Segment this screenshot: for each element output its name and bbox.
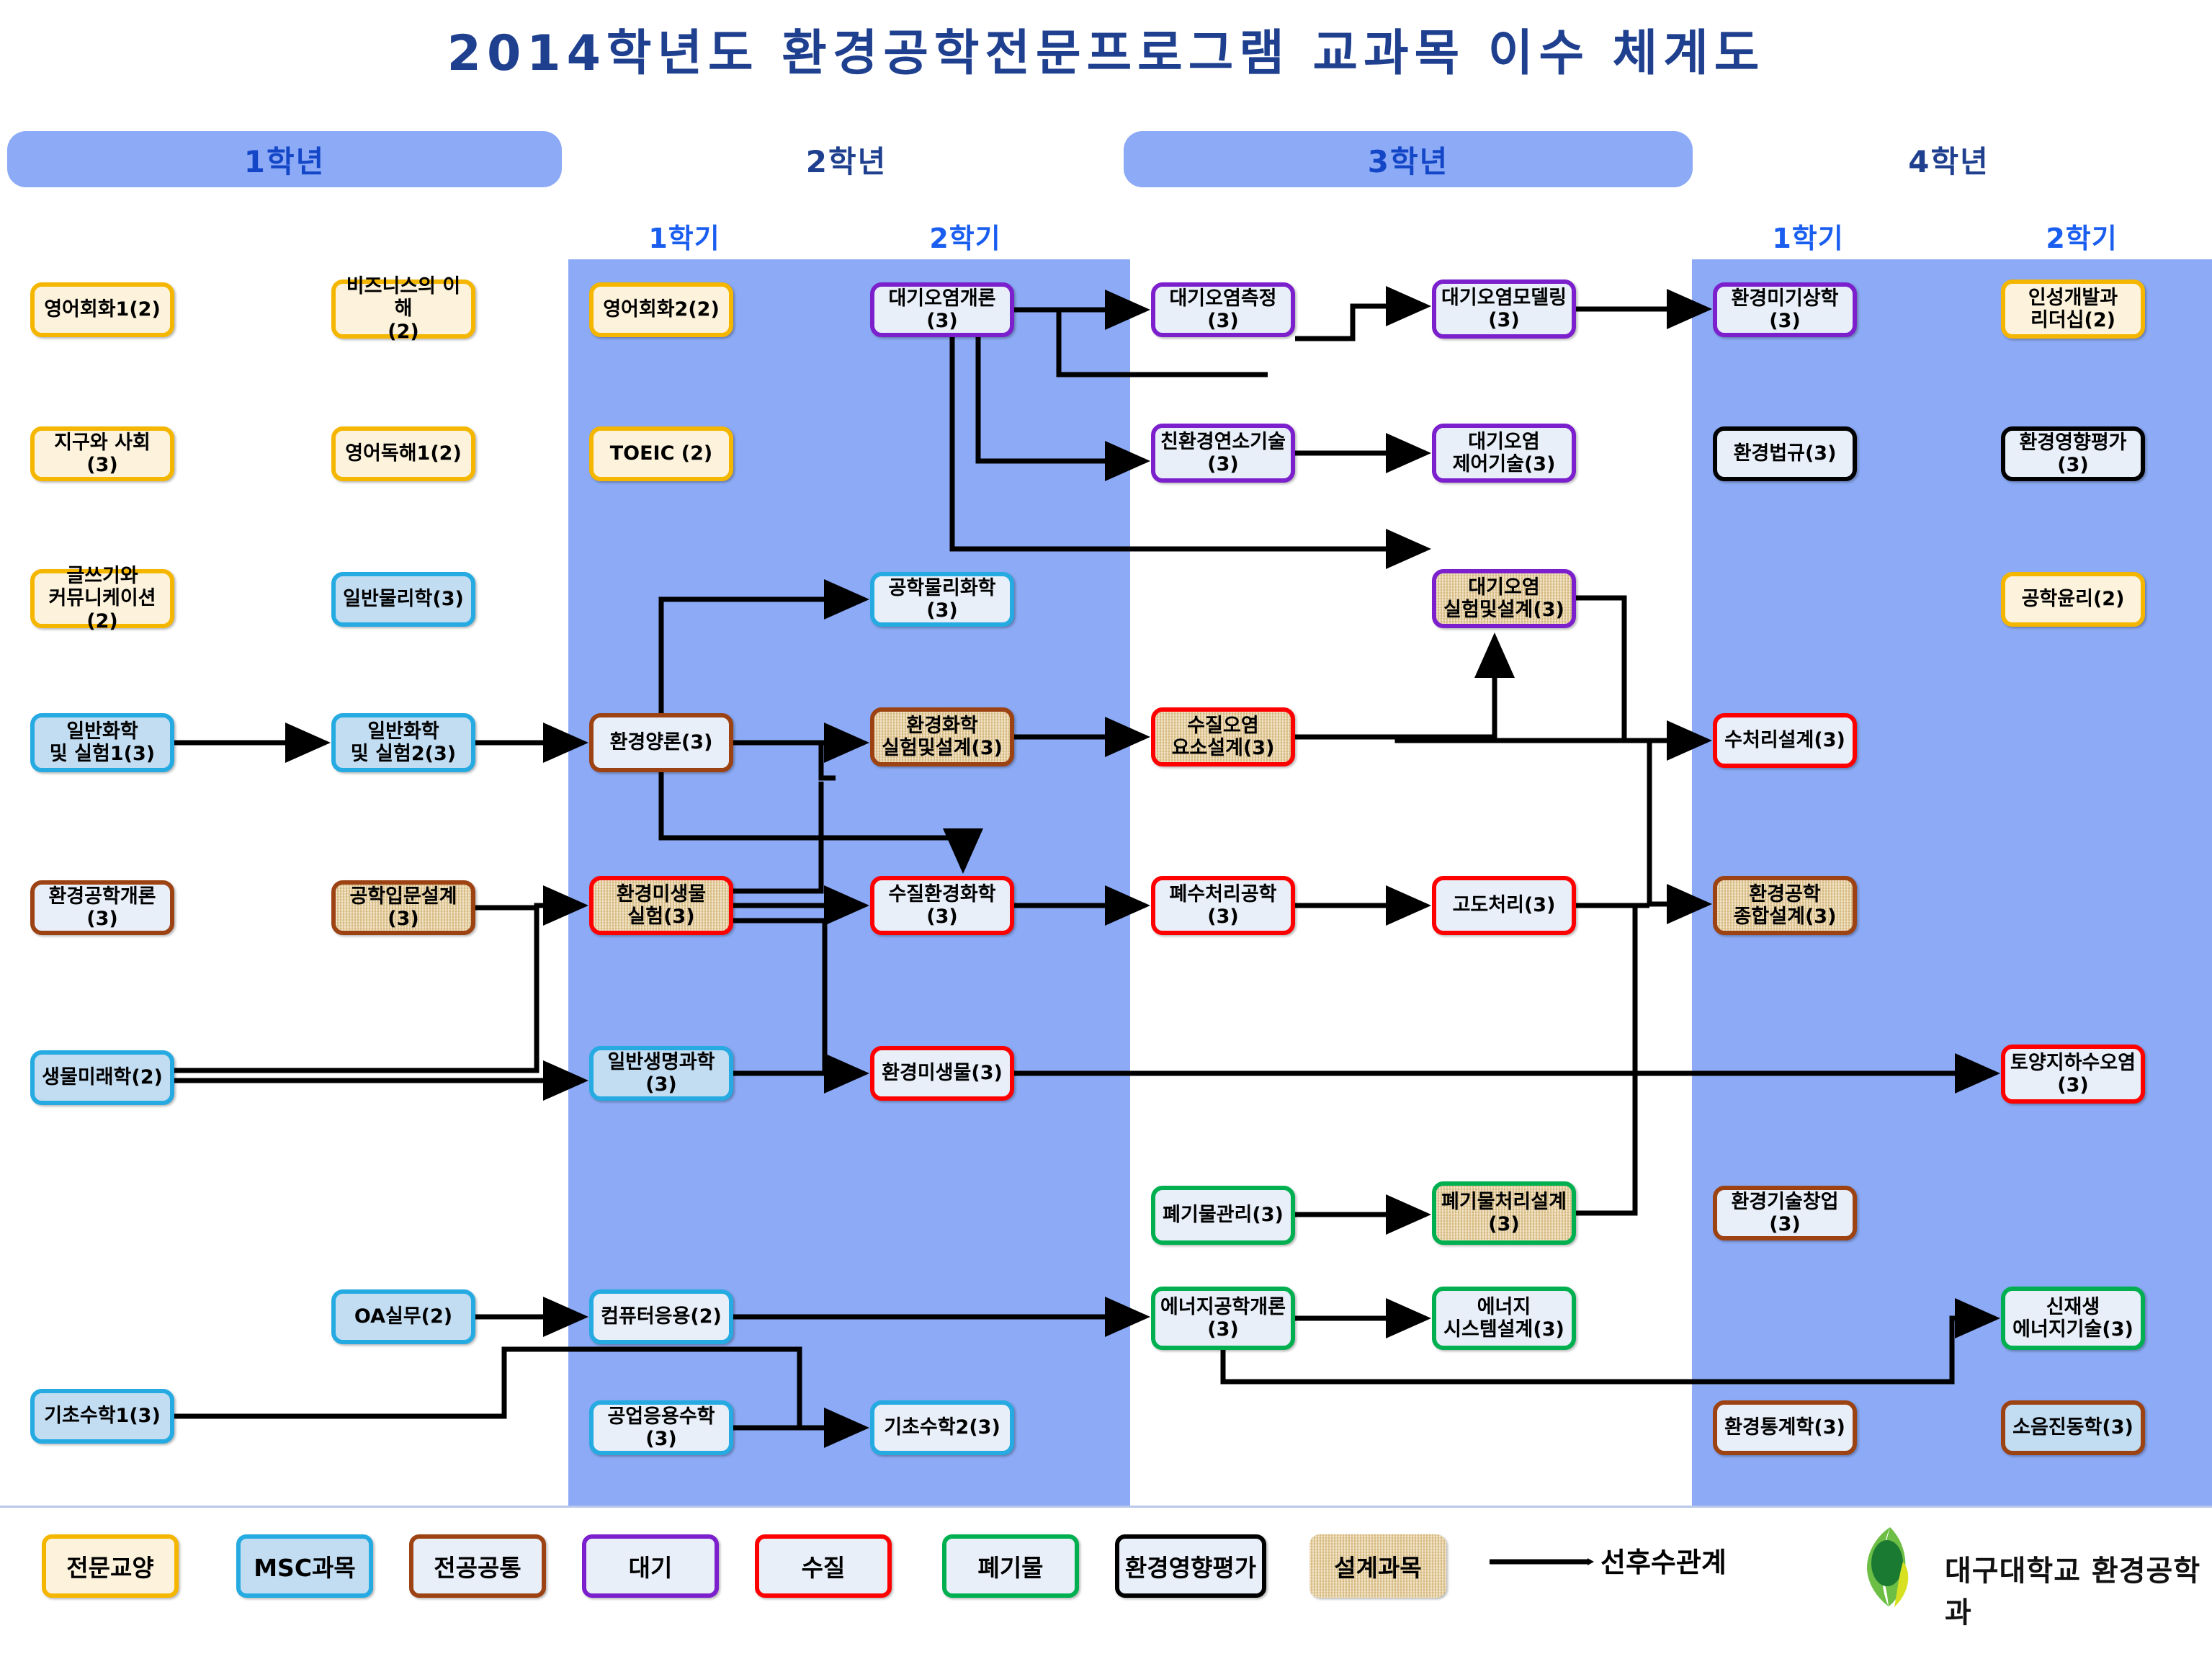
semester-header-1: 1학기 [29, 216, 245, 252]
course-box[interactable]: 대기오염측정(3) [1151, 282, 1295, 337]
semester-header-6: 2학기 [1419, 216, 1635, 252]
legend-item-2: MSC과목 [236, 1534, 373, 1598]
course-box[interactable]: 소음진동학(3) [2001, 1400, 2145, 1455]
course-box[interactable]: 영어회화2(2) [589, 282, 733, 337]
legend-item-7: 환경영향평가 [1115, 1534, 1266, 1598]
course-box[interactable]: 에너지시스템설계(3) [1432, 1287, 1576, 1350]
course-box[interactable]: 인성개발과리더십(2) [2001, 280, 2145, 339]
year-header-1: 1학년 [7, 131, 562, 187]
course-box[interactable]: 일반물리학(3) [331, 572, 475, 627]
course-box[interactable]: 환경공학종합설계(3) [1713, 876, 1857, 935]
prerequisite-arrow-label: 선후수관계 [1600, 1540, 1727, 1580]
course-box[interactable]: 일반화학및 실험2(3) [331, 713, 475, 772]
course-box[interactable]: 일반생명과학(3) [589, 1046, 733, 1101]
course-box[interactable]: 기초수학1(3) [30, 1389, 174, 1444]
course-box[interactable]: TOEIC (2) [589, 426, 733, 481]
page-title: 2014학년도 환경공학전문프로그램 교과목 이수 체계도 [0, 13, 2212, 84]
legend-item-8: 설계과목 [1309, 1534, 1446, 1598]
course-box[interactable]: 공학물리화학(3) [870, 572, 1014, 627]
course-box[interactable]: 환경영향평가(3) [2001, 426, 2145, 481]
course-box[interactable]: 폐수처리공학(3) [1151, 876, 1295, 935]
course-box[interactable]: 지구와 사회(3) [30, 426, 174, 481]
legend-item-6: 폐기물 [942, 1534, 1079, 1598]
course-box[interactable]: 토양지하수오염(3) [2001, 1045, 2145, 1104]
university-logo-text: 대구대학교 환경공학과 [1945, 1547, 2212, 1631]
course-box[interactable]: 친환경연소기술(3) [1151, 424, 1295, 483]
legend-item-5: 수질 [755, 1534, 892, 1598]
curriculum-flowchart-page: 2014학년도 환경공학전문프로그램 교과목 이수 체계도 1학년2학년3학년4… [0, 0, 2212, 1659]
course-box[interactable]: 환경공학개론(3) [30, 880, 174, 935]
course-box[interactable]: OA실무(2) [331, 1289, 475, 1344]
course-box[interactable]: 컴퓨터응용(2) [589, 1289, 733, 1344]
course-box[interactable]: 영어회화1(2) [30, 282, 174, 337]
course-box[interactable]: 환경화학실험및설계(3) [870, 707, 1014, 766]
course-box[interactable]: 환경미기상학(3) [1713, 282, 1857, 337]
semester-header-5: 1학기 [1138, 216, 1354, 252]
course-box[interactable]: 수처리설계(3) [1713, 713, 1857, 768]
year-header-2: 2학년 [569, 131, 1124, 187]
course-box[interactable]: 환경양론(3) [589, 713, 733, 772]
course-box[interactable]: 대기오염제어기술(3) [1432, 424, 1576, 483]
course-box[interactable]: 대기오염모델링(3) [1432, 280, 1576, 339]
course-box[interactable]: 환경법규(3) [1713, 426, 1857, 481]
course-box[interactable]: 영어독해1(2) [331, 426, 475, 481]
course-box[interactable]: 폐기물관리(3) [1151, 1186, 1295, 1245]
semester-header-8: 2학기 [1974, 216, 2190, 252]
course-box[interactable]: 비즈니스의 이해(2) [331, 280, 475, 339]
prerequisite-arrow-icon [1490, 1558, 1594, 1565]
legend-item-1: 전문교양 [42, 1534, 179, 1598]
course-box[interactable]: 폐기물처리설계(3) [1432, 1181, 1576, 1245]
semester-header-3: 1학기 [576, 216, 792, 252]
course-box[interactable]: 고도처리(3) [1432, 876, 1576, 935]
course-box[interactable]: 일반화학및 실험1(3) [30, 713, 174, 772]
course-box[interactable]: 환경미생물(3) [870, 1046, 1014, 1101]
course-box[interactable]: 대기오염개론(3) [870, 282, 1014, 337]
course-box[interactable]: 에너지공학개론(3) [1151, 1287, 1295, 1350]
course-box[interactable]: 대기오염실험및설계(3) [1432, 569, 1576, 628]
course-box[interactable]: 수질오염요소설계(3) [1151, 707, 1295, 766]
course-box[interactable]: 환경통계학(3) [1713, 1400, 1857, 1455]
course-box[interactable]: 공학입문설계(3) [331, 880, 475, 935]
course-box[interactable]: 환경미생물실험(3) [589, 876, 733, 935]
course-box[interactable]: 기초수학2(3) [870, 1400, 1014, 1455]
semester-header-2: 2학기 [303, 216, 519, 252]
course-box[interactable]: 환경기술창업(3) [1713, 1186, 1857, 1240]
legend-item-4: 대기 [582, 1534, 719, 1598]
year-header-3: 3학년 [1124, 131, 1693, 187]
semester-header-4: 2학기 [857, 216, 1073, 252]
course-box[interactable]: 공업응용수학(3) [589, 1400, 733, 1455]
course-box[interactable]: 공학윤리(2) [2001, 572, 2145, 627]
year-header-4: 4학년 [1693, 131, 2205, 187]
course-box[interactable]: 생물미래학(2) [30, 1050, 174, 1105]
course-box[interactable]: 글쓰기와커뮤니케이션(2) [30, 569, 174, 628]
semester-header-7: 1학기 [1700, 216, 1916, 252]
course-box[interactable]: 신재생에너지기술(3) [2001, 1287, 2145, 1350]
legend-item-3: 전공공통 [409, 1534, 546, 1598]
course-box[interactable]: 수질환경화학(3) [870, 876, 1014, 935]
